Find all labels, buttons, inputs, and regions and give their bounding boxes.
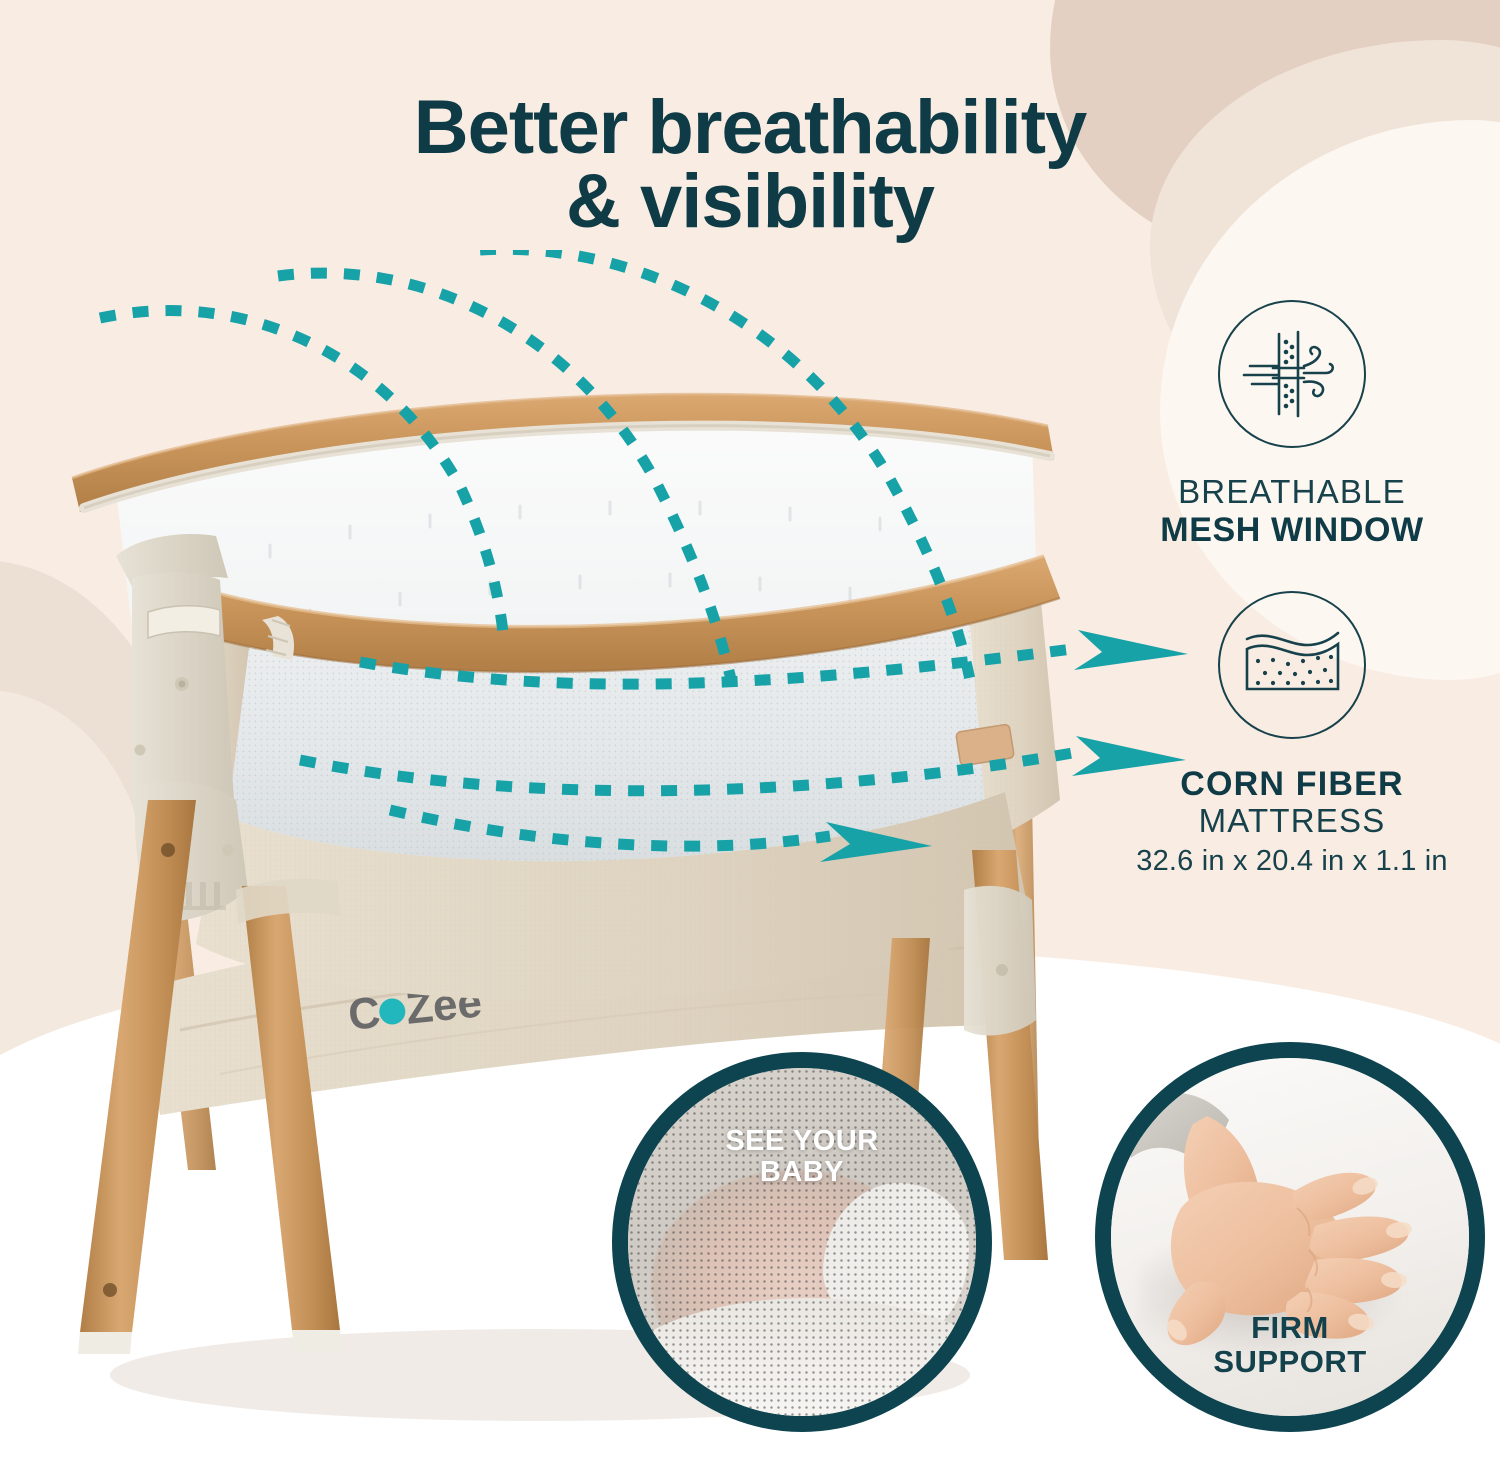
feature-label-line2: MESH WINDOW bbox=[1112, 511, 1472, 549]
svg-text:C: C bbox=[346, 988, 383, 1040]
inset-caption-line1: SEE YOUR bbox=[628, 1126, 976, 1157]
inset-caption-line1: FIRM bbox=[1111, 1311, 1469, 1344]
feature-list: BREATHABLE MESH WINDOW bbox=[1112, 300, 1472, 921]
baby-through-mesh-photo bbox=[628, 1068, 976, 1416]
feature-mattress-dimensions: 32.6 in x 20.4 in x 1.1 in bbox=[1112, 844, 1472, 879]
inset-caption: FIRM SUPPORT bbox=[1111, 1311, 1469, 1378]
feature-label-line1: CORN FIBER bbox=[1112, 765, 1472, 803]
inset-firm-support: FIRM SUPPORT bbox=[1095, 1042, 1485, 1432]
corn-fiber-mattress-icon bbox=[1218, 591, 1366, 739]
inset-caption-line2: SUPPORT bbox=[1111, 1345, 1469, 1378]
feature-label-line1: BREATHABLE bbox=[1112, 474, 1472, 511]
feature-label-line2: MATTRESS bbox=[1112, 803, 1472, 840]
leather-brand-tag bbox=[956, 724, 1015, 766]
mesh-texture-overlay bbox=[628, 1068, 976, 1416]
feature-breathable-mesh-window: BREATHABLE MESH WINDOW bbox=[1112, 300, 1472, 549]
breathable-mesh-icon bbox=[1218, 300, 1366, 448]
infographic-canvas: Better breathability & visibility bbox=[0, 0, 1500, 1465]
page-title: Better breathability & visibility bbox=[0, 91, 1500, 240]
inset-caption: SEE YOUR BABY bbox=[628, 1126, 976, 1189]
inset-caption-line2: BABY bbox=[628, 1157, 976, 1188]
feature-corn-fiber-mattress: CORN FIBER MATTRESS 32.6 in x 20.4 in x … bbox=[1112, 591, 1472, 879]
title-line-1: Better breathability bbox=[0, 91, 1500, 165]
inset-see-your-baby: SEE YOUR BABY bbox=[612, 1052, 992, 1432]
title-line-2: & visibility bbox=[0, 165, 1500, 239]
